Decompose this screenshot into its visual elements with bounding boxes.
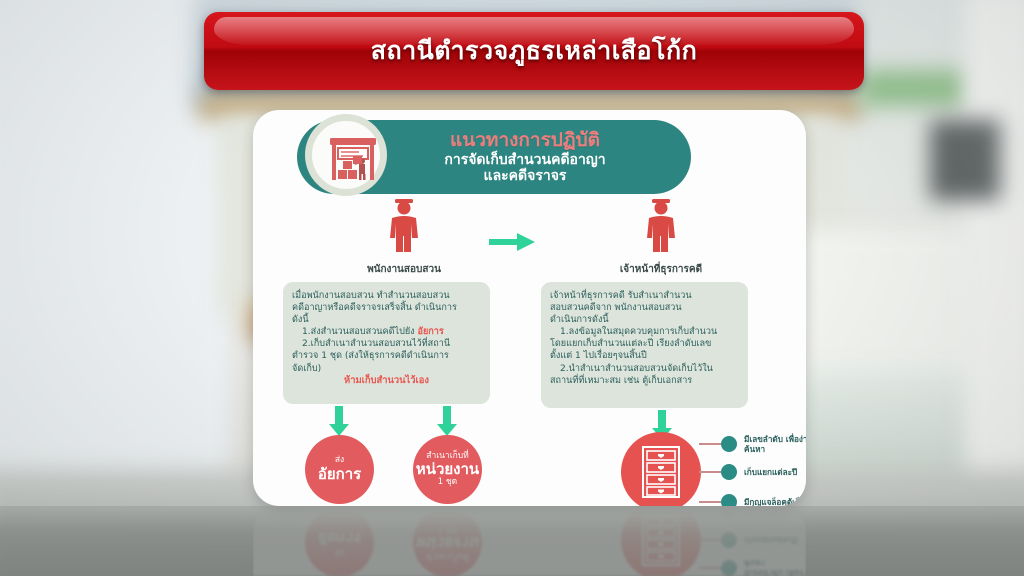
infographic-card: แนวทางการปฏิบัติ การจัดเก็บสำนวนคดีอาญา … [253,506,806,576]
panel-right-intro-3: ดำเนินการดังนี้ [550,314,739,326]
flow-arrow-right-icon [489,233,535,251]
filing-cabinet-icon [621,432,701,506]
panel-left-intro-3: ดังนี้ [292,314,481,326]
storage-bullet-3: มีกุญแจล็อคตู้เก็บ [699,506,806,518]
bullet-dot-icon [721,464,737,480]
infographic-subtitle-line2: และคดีจราจร [375,168,675,184]
outcome-circle-prosecutor: ส่ง อัยการ [305,435,374,504]
outcome-circle-agency: สำเนาเก็บที่ หน่วยงาน 1 ชุด [413,508,482,576]
storage-bullet-2: เก็บแยกแต่ละปี [699,464,806,480]
storage-bullet-1: มีเลขลำดับ เพื่อง่ายต่อการค้นหา [699,434,806,454]
flow-arrow-down-icon-1 [328,406,350,436]
screen: สถานีตำรวจภูธรเหล่าเสือโก้ก แนวทางการปฏิ… [0,0,1024,576]
storage-bullet-1-label: มีเลขลำดับ เพื่อง่ายต่อการค้นหา [744,434,806,454]
panel-left-item1-accent: อัยการ [418,327,444,337]
storage-bullet-1-label: มีเลขลำดับ เพื่อง่ายต่อการค้นหา [744,558,806,576]
panel-right-intro-1: เจ้าหน้าที่ธุรการคดี รับสำเนาสำนวน [550,290,739,302]
panel-right-item1-2: โดยแยกเก็บสำนวนแต่ละปี เรียงลำดับเลข [550,338,739,350]
panel-left-item2-3: จัดเก็บ) [292,363,481,375]
bullet-connector-line [699,567,721,569]
storage-bullet-3-label: มีกุญแจล็อคตู้เก็บ [744,497,806,506]
police-officer-icon-clerk [641,198,681,260]
panel-left-warning: ห้ามเก็บสำนวนไว้เอง [292,375,481,388]
panel-right-item2-2: สถานที่ที่เหมาะสม เช่น ตู้เก็บเอกสาร [550,375,739,387]
infographic-subtitle-line1: การจัดเก็บสำนวนคดีอาญา [375,152,675,168]
storage-bullet-2-label: เก็บแยกแต่ละปี [744,467,806,477]
flow-arrow-down-icon-2 [436,406,458,436]
storage-bullet-1: มีเลขลำดับ เพื่อง่ายต่อการค้นหา [699,558,806,576]
storage-bullet-3-label: มีกุญแจล็อคตู้เก็บ [744,506,806,515]
outcome-0-big: อัยการ [318,529,361,546]
outcome-1-big: หน่วยงาน [416,461,479,478]
panel-right-item2-1: 2.นำสำเนาสำนวนสอบสวนจัดเก็บไว้ใน [550,363,739,375]
role-label-clerk: เจ้าหน้าที่ธุรการคดี [586,262,736,277]
panel-left-item2-1: 2.เก็บสำเนาสำนวนสอบสวนไว้ที่สถานี [292,338,481,350]
bullet-connector-line [699,539,721,541]
infographic-kicker: แนวทางการปฏิบัติ [375,130,675,152]
storage-bullet-2-label: เก็บแยกแต่ละปี [744,535,806,545]
panel-left-intro-2: คดีอาญาหรือคดีจราจรเสร็จสิ้น ดำเนินการ [292,302,481,314]
panel-left-intro-1: เมื่อพนักงานสอบสวน ทำสำนวนสอบสวน [292,290,481,302]
bullet-dot-icon [721,532,737,548]
title-banner: สถานีตำรวจภูธรเหล่าเสือโก้ก [204,12,864,90]
bullet-connector-line [699,501,721,503]
bullet-dot-icon [721,506,737,518]
panel-right-item1-3: ตั้งแต่ 1 ไปเรื่อยๆจนสิ้นปี [550,350,739,362]
panel-left-item1: 1.ส่งสำนวนสอบสวนคดีไปยัง อัยการ [292,326,481,338]
storage-bullet-3: มีกุญแจล็อคตู้เก็บ [699,494,806,506]
panel-right-item1-1: 1.ลงข้อมูลในสมุดควบคุมการเก็บสำนวน [550,326,739,338]
panel-clerk: เจ้าหน้าที่ธุรการคดี รับสำเนาสำนวน สอบสว… [541,282,748,408]
outcome-0-big: อัยการ [318,466,361,483]
outcome-1-big: หน่วยงาน [416,534,479,551]
panel-right-intro-2: สอบสวนคดีจาก พนักงานสอบสวน [550,302,739,314]
warehouse-storage-icon [305,114,387,196]
outcome-circle-agency: สำเนาเก็บที่ หน่วยงาน 1 ชุด [413,435,482,504]
page-title: สถานีตำรวจภูธรเหล่าเสือโก้ก [204,12,864,90]
outcome-0-small: ส่ง [335,546,344,555]
storage-bullet-2: เก็บแยกแต่ละปี [699,532,806,548]
card-reflection: แนวทางการปฏิบัติ การจัดเก็บสำนวนคดีอาญา … [253,506,806,576]
bullet-connector-line [699,443,721,445]
bullet-dot-icon [721,494,737,506]
panel-investigator: เมื่อพนักงานสอบสวน ทำสำนวนสอบสวน คดีอาญา… [283,282,490,404]
bullet-dot-icon [721,560,737,576]
outcome-1-extra: 1 ชุด [438,478,457,487]
role-label-investigator: พนักงานสอบสวน [329,262,479,277]
bullet-connector-line [699,471,721,473]
outcome-1-extra: 1 ชุด [438,525,457,534]
outcome-1-small: สำเนาเก็บที่ [426,551,469,560]
filing-cabinet-icon [621,506,701,576]
bullet-dot-icon [721,436,737,452]
outcome-circle-prosecutor: ส่ง อัยการ [305,508,374,576]
panel-left-item2-2: ตำรวจ 1 ชุด (ส่งให้ธุรการคดีดำเนินการ [292,350,481,362]
infographic-card: แนวทางการปฏิบัติ การจัดเก็บสำนวนคดีอาญา … [253,110,806,506]
bullet-connector-line [699,509,721,511]
panel-left-item1-text: 1.ส่งสำนวนสอบสวนคดีไปยัง [302,327,418,337]
police-officer-icon-investigator [384,198,424,260]
